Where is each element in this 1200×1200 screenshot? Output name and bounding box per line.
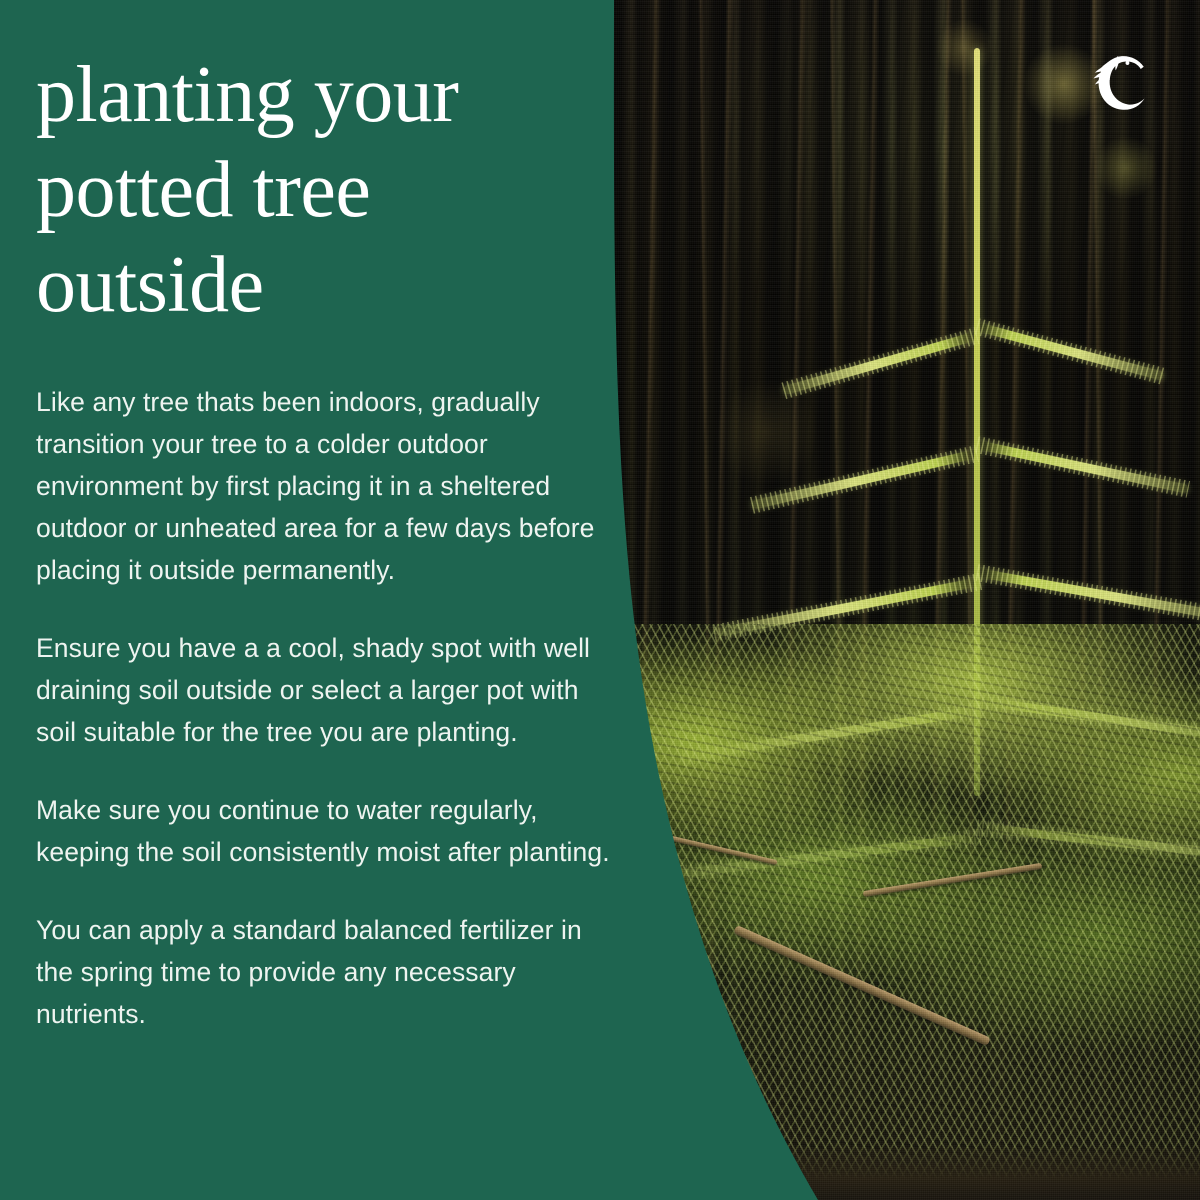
page-title: planting your potted tree outside (36, 0, 596, 333)
social-post-card: planting your potted tree outside Like a… (0, 0, 1200, 1200)
paragraph-4: You can apply a standard balanced fertil… (36, 909, 614, 1035)
paragraph-1: Like any tree thats been indoors, gradua… (36, 381, 614, 591)
sapling-branch (976, 322, 1165, 381)
body-copy: Like any tree thats been indoors, gradua… (36, 381, 614, 1035)
sapling-branch (782, 331, 978, 395)
paragraph-2: Ensure you have a a cool, shady spot wit… (36, 627, 614, 753)
logo-dot (1126, 61, 1130, 65)
monogram-c-leaf-logo[interactable] (1086, 46, 1160, 120)
sapling-branch (976, 440, 1189, 494)
logo-leaf-sprig (1093, 56, 1119, 84)
panel-content: planting your potted tree outside Like a… (36, 0, 636, 1035)
paragraph-3: Make sure you continue to water regularl… (36, 789, 614, 873)
